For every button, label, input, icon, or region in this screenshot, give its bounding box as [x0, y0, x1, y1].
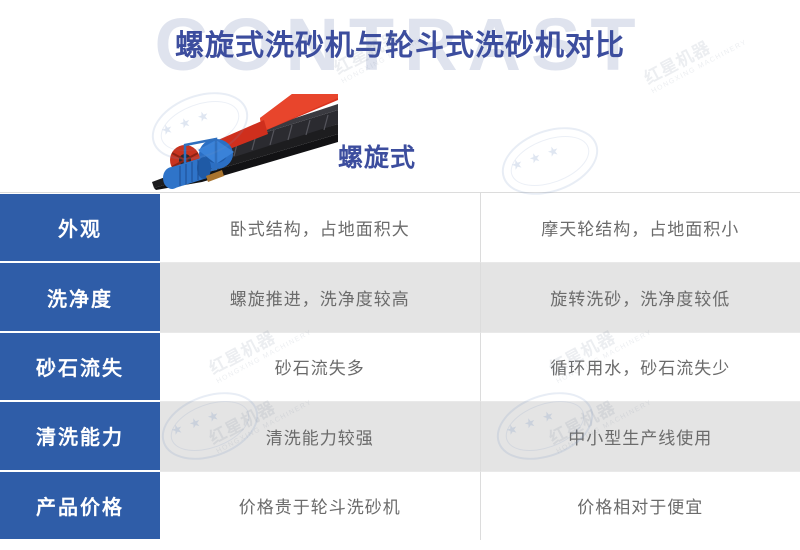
hero-header: 螺旋式: [0, 88, 800, 192]
spiral-sand-washer-image: [142, 94, 338, 190]
row-label-washing-capacity: 清洗能力: [0, 401, 160, 470]
comparison-table: 外观 卧式结构，占地面积大 摩天轮结构，占地面积小 洗净度 螺旋推进，洗净度较高…: [0, 192, 800, 540]
cell-wheel-price: 价格相对于便宜: [481, 471, 800, 540]
cell-wheel-appearance: 摩天轮结构，占地面积小: [481, 193, 800, 262]
table-row: 洗净度 螺旋推进，洗净度较高 旋转洗砂，洗净度较低: [0, 262, 800, 331]
row-label-price: 产品价格: [0, 471, 160, 540]
table-row: 砂石流失 砂石流失多 循环用水，砂石流失少: [0, 332, 800, 401]
table-row: 外观 卧式结构，占地面积大 摩天轮结构，占地面积小: [0, 193, 800, 262]
cell-spiral-sand-loss: 砂石流失多: [160, 332, 481, 401]
cell-spiral-price: 价格贵于轮斗洗砂机: [160, 471, 481, 540]
cell-spiral-washing-capacity: 清洗能力较强: [160, 401, 481, 470]
row-label-cleanliness: 洗净度: [0, 262, 160, 331]
table-row: 清洗能力 清洗能力较强 中小型生产线使用: [0, 401, 800, 470]
cell-wheel-sand-loss: 循环用水，砂石流失少: [481, 332, 800, 401]
cell-wheel-cleanliness: 旋转洗砂，洗净度较低: [481, 262, 800, 331]
title-area: CONTRAST 螺旋式洗砂机与轮斗式洗砂机对比: [0, 0, 800, 92]
row-label-appearance: 外观: [0, 193, 160, 262]
cell-wheel-washing-capacity: 中小型生产线使用: [481, 401, 800, 470]
table-row: 产品价格 价格贵于轮斗洗砂机 价格相对于便宜: [0, 471, 800, 540]
page-title: 螺旋式洗砂机与轮斗式洗砂机对比: [0, 26, 800, 66]
hero-left-panel: 螺旋式: [0, 88, 400, 192]
cell-spiral-cleanliness: 螺旋推进，洗净度较高: [160, 262, 481, 331]
row-label-sand-loss: 砂石流失: [0, 332, 160, 401]
cell-spiral-appearance: 卧式结构，占地面积大: [160, 193, 481, 262]
hero-right-panel: ★ ★ ★ 轮斗式: [400, 88, 800, 192]
